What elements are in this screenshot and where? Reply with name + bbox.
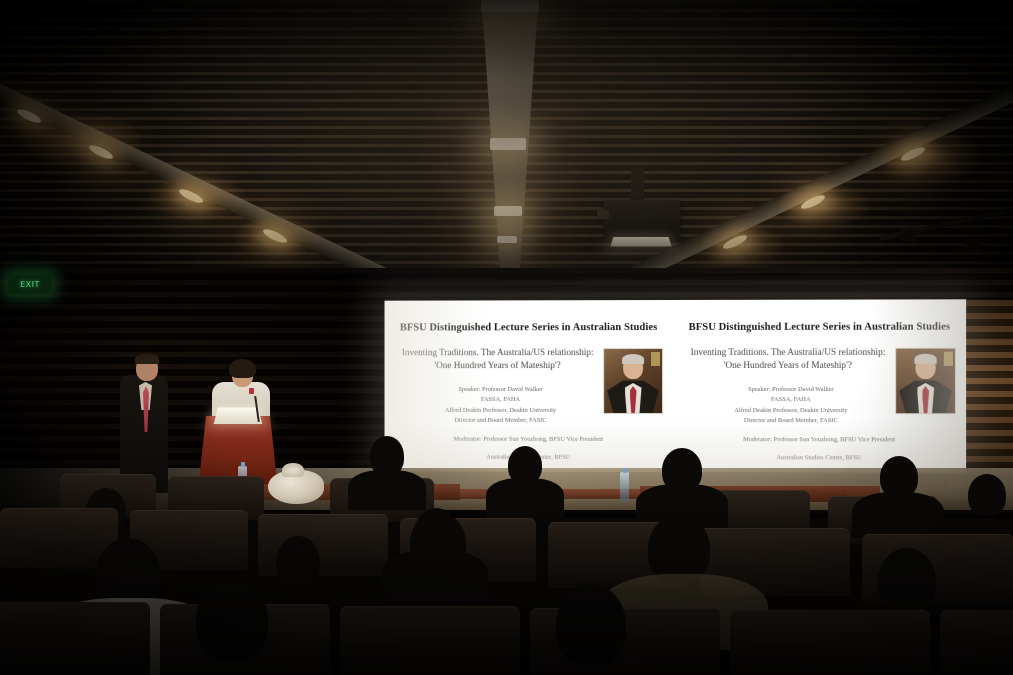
plastic-bag xyxy=(268,470,324,504)
speaker-role: Director and Board Member, FASIC xyxy=(679,416,903,427)
audience-head xyxy=(968,474,1006,516)
slide-moderator: Moderator: Professor Sun Youzhong, BFSU … xyxy=(390,436,667,443)
speaker-fellowships: FASSA, FAHA xyxy=(679,395,903,405)
slide-subtitle-line1: Inventing Traditions. The Australia/US r… xyxy=(679,347,897,361)
ceiling-shading xyxy=(0,0,1013,300)
lecture-hall-photo: EXIT BFSU Distinguished Lecture Series i… xyxy=(0,0,1013,675)
auditorium-seat xyxy=(340,606,520,675)
right-projection: BFSU Distinguished Lecture Series in Aus… xyxy=(673,299,966,472)
speaker-name: Speaker: Professor David Walker xyxy=(679,385,903,395)
exit-sign: EXIT xyxy=(8,275,52,294)
audience-head xyxy=(196,578,268,662)
audience-head xyxy=(556,584,626,666)
audience-shoulders xyxy=(852,492,944,538)
lectern-paper xyxy=(214,408,262,424)
audience-head xyxy=(276,536,320,588)
projection-screen: BFSU Distinguished Lecture Series in Aus… xyxy=(385,299,967,472)
portrait-hair xyxy=(914,354,936,364)
speaker-portrait xyxy=(895,348,956,415)
portrait-hair xyxy=(622,354,644,364)
slide-title: BFSU Distinguished Lecture Series in Aus… xyxy=(679,321,960,332)
slatted-ceiling xyxy=(0,0,1013,300)
audience-area xyxy=(0,452,1013,675)
speaker-name: Speaker: Professor David Walker xyxy=(390,385,611,395)
auditorium-seat xyxy=(940,610,1013,675)
slide-moderator: Moderator: Professor Sun Youzhong, BFSU … xyxy=(679,436,960,443)
standing-man-hair xyxy=(135,354,159,364)
exit-sign-label: EXIT xyxy=(20,281,40,289)
slide-title: BFSU Distinguished Lecture Series in Aus… xyxy=(390,322,667,333)
slide-subtitle-line1: Inventing Traditions. The Australia/US r… xyxy=(390,347,605,361)
speaker-role: Director and Board Member, FASIC xyxy=(390,416,611,427)
audience-shoulders xyxy=(348,470,426,510)
portrait-background-detail xyxy=(651,352,660,366)
speaker-position: Alfred Deakin Professor, Deakin Universi… xyxy=(679,406,903,417)
speaker-fellowships: FASSA, FAHA xyxy=(390,395,611,405)
audience-head xyxy=(410,512,466,574)
auditorium-seat xyxy=(0,602,150,675)
auditorium-seat xyxy=(730,610,930,675)
speaker-position: Alfred Deakin Professor, Deakin Universi… xyxy=(390,406,611,416)
audience-head xyxy=(878,548,936,614)
water-bottle xyxy=(620,472,629,502)
slide-subtitle-line2: 'One Hundred Years of Mateship'? xyxy=(679,360,897,374)
speaker-portrait xyxy=(603,348,663,414)
slide-subtitle-line2: 'One Hundred Years of Mateship'? xyxy=(390,361,605,375)
speaker-woman-hair xyxy=(229,359,256,378)
audience-shoulders xyxy=(486,478,564,518)
speaker-woman-badge xyxy=(249,388,254,394)
portrait-background-detail xyxy=(944,352,953,366)
